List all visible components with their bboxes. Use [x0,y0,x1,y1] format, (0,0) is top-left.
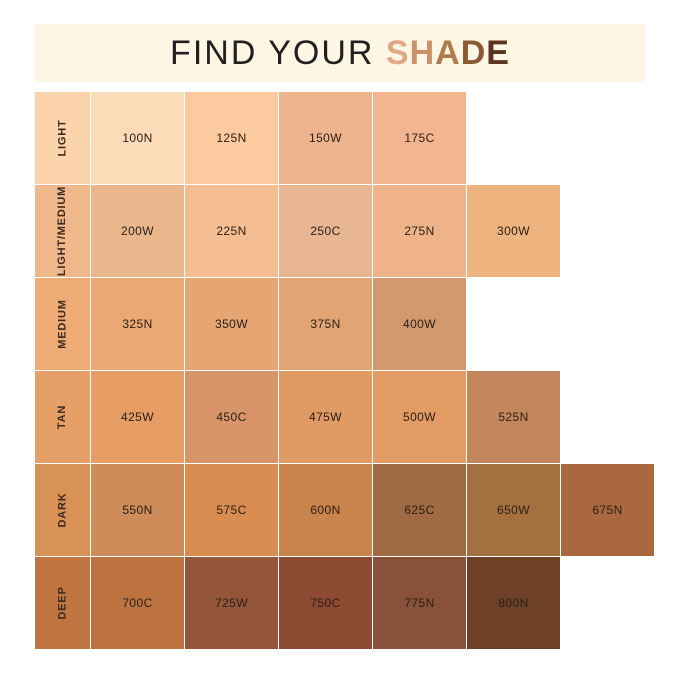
shade-swatch-375n[interactable]: 375N [279,278,372,370]
shade-swatch-450c[interactable]: 450C [185,371,278,463]
shade-code-label: 350W [215,317,248,331]
shade-swatch-150w[interactable]: 150W [279,92,372,184]
shade-swatch-500w[interactable]: 500W [373,371,466,463]
shade-row: LIGHT100N125N150W175C [35,92,655,184]
shade-code-label: 275N [404,224,434,238]
shade-swatch-575c[interactable]: 575C [185,464,278,556]
shade-row: DEEP700C725W750C775N800N [35,557,655,649]
shade-swatch-250c[interactable]: 250C [279,185,372,277]
shade-swatch-625c[interactable]: 625C [373,464,466,556]
shade-code-label: 675N [592,503,622,517]
shade-swatch-750c[interactable]: 750C [279,557,372,649]
depth-label-light-medium: LIGHT/MEDIUM [35,185,90,277]
shade-swatch-225n[interactable]: 225N [185,185,278,277]
shade-code-label: 325N [122,317,152,331]
title-letter-d-3: D [461,36,487,70]
shade-swatch-775n[interactable]: 775N [373,557,466,649]
depth-label-text: DARK [56,493,68,528]
depth-label-tan: TAN [35,371,90,463]
title-letter-h-1: H [410,36,436,70]
shade-code-label: 225N [216,224,246,238]
shade-code-label: 425W [121,410,154,424]
shade-swatch-350w[interactable]: 350W [185,278,278,370]
shade-code-label: 475W [309,410,342,424]
page-title: FIND YOUR SHADE [170,36,510,70]
page-title-emphasis: SHADE [386,34,510,72]
page-title-prefix: FIND YOUR [170,34,386,72]
depth-label-text: LIGHT/MEDIUM [57,186,69,276]
shade-code-label: 250C [310,224,340,238]
shade-swatch-300w[interactable]: 300W [467,185,560,277]
shade-swatch-325n[interactable]: 325N [91,278,184,370]
shade-code-label: 375N [310,317,340,331]
header-band: FIND YOUR SHADE [35,24,645,82]
depth-label-text: MEDIUM [56,299,68,348]
shade-code-label: 125N [216,131,246,145]
title-letter-e-4: E [486,36,510,70]
depth-label-medium: MEDIUM [35,278,90,370]
shade-swatch-550n[interactable]: 550N [91,464,184,556]
shade-code-label: 575C [216,503,246,517]
depth-label-deep: DEEP [35,557,90,649]
shade-row: MEDIUM325N350W375N400W [35,278,655,370]
shade-code-label: 525N [498,410,528,424]
shade-swatch-675n[interactable]: 675N [561,464,654,556]
shade-row: LIGHT/MEDIUM200W225N250C275N300W [35,185,655,277]
depth-label-text: LIGHT [57,120,69,157]
shade-code-label: 750C [310,596,340,610]
shade-code-label: 625C [404,503,434,517]
shade-grid: LIGHT100N125N150W175CLIGHT/MEDIUM200W225… [35,92,655,650]
shade-swatch-475w[interactable]: 475W [279,371,372,463]
depth-label-text: TAN [56,405,68,429]
depth-label-text: DEEP [57,586,69,619]
shade-code-label: 650W [497,503,530,517]
shade-swatch-425w[interactable]: 425W [91,371,184,463]
shade-swatch-100n[interactable]: 100N [91,92,184,184]
shade-swatch-175c[interactable]: 175C [373,92,466,184]
shade-code-label: 200W [121,224,154,238]
depth-label-dark: DARK [35,464,90,556]
shade-row: TAN425W450C475W500W525N [35,371,655,463]
shade-code-label: 600N [310,503,340,517]
shade-swatch-650w[interactable]: 650W [467,464,560,556]
shade-swatch-125n[interactable]: 125N [185,92,278,184]
shade-swatch-800n[interactable]: 800N [467,557,560,649]
shade-code-label: 800N [498,596,528,610]
shade-swatch-275n[interactable]: 275N [373,185,466,277]
shade-code-label: 150W [309,131,342,145]
shade-swatch-525n[interactable]: 525N [467,371,560,463]
shade-code-label: 725W [215,596,248,610]
shade-code-label: 300W [497,224,530,238]
shade-swatch-725w[interactable]: 725W [185,557,278,649]
shade-finder-page: FIND YOUR SHADE LIGHT100N125N150W175CLIG… [0,0,679,679]
shade-swatch-400w[interactable]: 400W [373,278,466,370]
shade-code-label: 775N [404,596,434,610]
shade-code-label: 500W [403,410,436,424]
title-letter-a-2: A [435,36,461,70]
shade-swatch-600n[interactable]: 600N [279,464,372,556]
shade-swatch-200w[interactable]: 200W [91,185,184,277]
shade-code-label: 700C [122,596,152,610]
shade-code-label: 450C [216,410,246,424]
shade-code-label: 100N [122,131,152,145]
shade-swatch-700c[interactable]: 700C [91,557,184,649]
shade-code-label: 550N [122,503,152,517]
shade-row: DARK550N575C600N625C650W675N [35,464,655,556]
shade-code-label: 175C [404,131,434,145]
shade-code-label: 400W [403,317,436,331]
depth-label-light: LIGHT [35,92,90,184]
title-letter-s-0: S [386,36,410,70]
